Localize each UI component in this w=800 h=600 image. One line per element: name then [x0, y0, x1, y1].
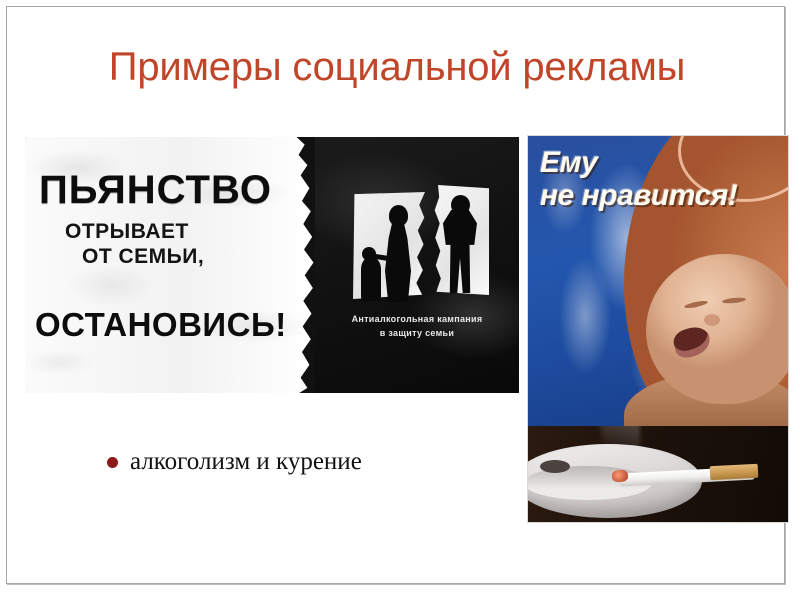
presentation-slide: Примеры социальной рекламы ПЬЯНСТВО ОТРЫ…	[0, 0, 800, 600]
poster-caption: Антиалкогольная кампания в защиту семьи	[325, 312, 509, 340]
child-silhouette-icon	[361, 257, 381, 301]
poster-caption-line-1: Антиалкогольная кампания	[325, 312, 509, 326]
poster-caption-line-2: в защиту семьи	[325, 326, 509, 340]
father-head-icon	[451, 195, 470, 215]
page-title: Примеры социальной рекламы	[47, 43, 747, 91]
crying-baby-icon	[646, 254, 788, 404]
poster-lower-scene	[528, 426, 788, 522]
poster-upper-scene: Ему не нравится!	[528, 136, 788, 426]
poster-callout: ОСТАНОВИСЬ!	[35, 307, 287, 343]
bullet-item-label: алкоголизм и курение	[130, 447, 362, 477]
cigarette-filter	[710, 464, 759, 480]
bullet-dot-icon	[107, 457, 118, 468]
mother-head-icon	[389, 205, 408, 226]
poster-headline-line-2: не нравится!	[540, 179, 788, 212]
poster-subline-1: ОТРЫВАЕТ	[65, 219, 189, 244]
bullet-list-item: алкоголизм и курение	[107, 447, 362, 477]
slide-frame: Примеры социальной рекламы ПЬЯНСТВО ОТРЫ…	[6, 6, 785, 584]
cigarette-ember	[612, 470, 629, 483]
poster-headline-line-1: Ему	[540, 146, 597, 179]
poster-subline-2: ОТ СЕМЬИ,	[82, 244, 204, 269]
poster-anti-alcohol: ПЬЯНСТВО ОТРЫВАЕТ ОТ СЕМЬИ, ОСТАНОВИСЬ! …	[25, 137, 519, 393]
baby-nose	[704, 314, 720, 326]
poster-headline: ПЬЯНСТВО	[39, 170, 272, 210]
poster-anti-smoking: Ему не нравится!	[527, 135, 789, 523]
poster-headline: Ему не нравится!	[540, 146, 788, 212]
ashtray-notch	[540, 460, 570, 473]
silhouette-group: Антиалкогольная кампания в защиту семьи	[315, 137, 519, 393]
